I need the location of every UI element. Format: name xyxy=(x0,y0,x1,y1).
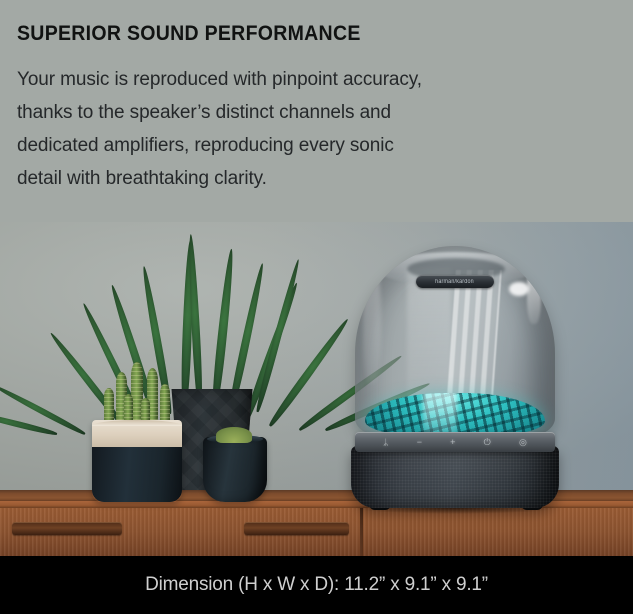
drawer-pull-left[interactable] xyxy=(12,522,122,535)
body-line-2: thanks to the speaker’s distinct channel… xyxy=(17,96,537,129)
copy-block: SUPERIOR SOUND PERFORMANCE Your music is… xyxy=(0,0,633,222)
dome-highlight-right xyxy=(527,266,541,324)
dimension-caption: Dimension (H x W x D): 11.2” x 9.1” x 9.… xyxy=(145,574,488,596)
drawer-pull-right[interactable] xyxy=(244,522,349,535)
product-photo: ᛦ − + ⏻ ◎ harman/kardon xyxy=(0,222,633,556)
bluetooth-icon[interactable]: ᛦ xyxy=(383,438,388,447)
teal-diffuser xyxy=(365,393,545,437)
body-line-1: Your music is reproduced with pinpoint a… xyxy=(17,63,537,96)
dimension-footer: Dimension (H x W x D): 11.2” x 9.1” x 9.… xyxy=(0,556,633,614)
source-icon[interactable]: ◎ xyxy=(519,438,527,447)
brand-badge: harman/kardon xyxy=(416,275,494,288)
dome-specular-spot xyxy=(509,282,529,296)
brand-label: harman/kardon xyxy=(435,279,474,285)
planter-dark-band xyxy=(92,447,182,502)
speaker-control-ring[interactable]: ᛦ − + ⏻ ◎ xyxy=(355,432,555,452)
body-line-4: detail with breathtaking clarity. xyxy=(17,162,537,195)
diffuser-sheen xyxy=(423,393,457,437)
speaker-product: ᛦ − + ⏻ ◎ harman/kardon xyxy=(347,246,562,508)
volume-down-icon[interactable]: − xyxy=(417,438,422,447)
body-paragraph: Your music is reproduced with pinpoint a… xyxy=(17,63,537,195)
dome-window-reflection xyxy=(446,270,502,410)
mini-cactus xyxy=(216,427,252,443)
product-feature-panel: SUPERIOR SOUND PERFORMANCE Your music is… xyxy=(0,0,633,614)
fabric-weave xyxy=(351,446,559,508)
credenza-seam xyxy=(360,508,363,556)
power-icon[interactable]: ⏻ xyxy=(484,438,491,447)
volume-up-icon[interactable]: + xyxy=(450,438,455,447)
dome-highlight-left xyxy=(363,264,381,384)
planter-rim xyxy=(92,420,182,426)
small-planter xyxy=(203,437,267,502)
body-line-3: dedicated amplifiers, reproducing every … xyxy=(17,129,537,162)
speaker-fabric-base xyxy=(351,446,559,508)
two-tone-planter xyxy=(92,420,182,502)
page-title: SUPERIOR SOUND PERFORMANCE xyxy=(17,22,571,45)
